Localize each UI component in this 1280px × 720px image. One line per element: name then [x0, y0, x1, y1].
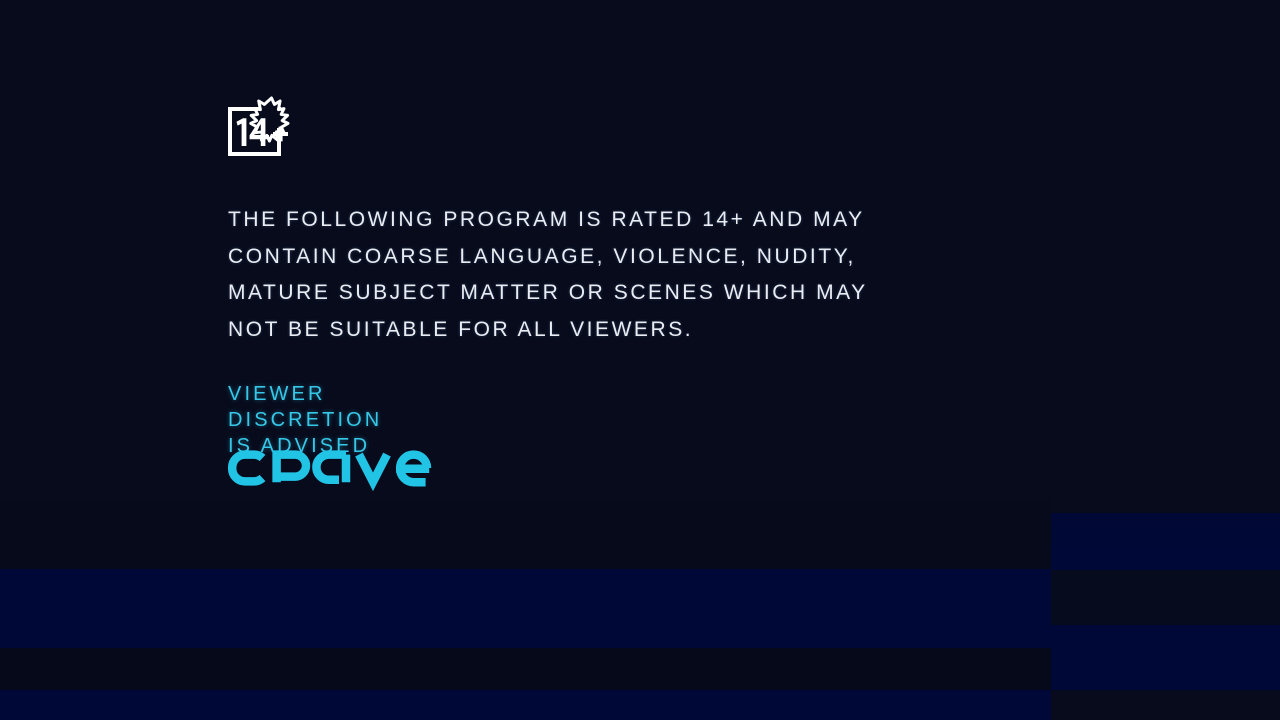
right-band-dark-1	[1051, 570, 1280, 625]
right-band-navy-1	[1051, 513, 1280, 570]
left-band-dark-1	[0, 648, 1051, 690]
crave-logo	[226, 442, 436, 494]
canadian-rating-14plus-icon	[228, 94, 302, 158]
left-band-navy-1	[0, 569, 1051, 648]
left-band-dark-upper	[0, 500, 1051, 569]
rating-bumper-screen: THE FOLLOWING PROGRAM IS RATED 14+ AND M…	[0, 0, 1280, 720]
right-band-dark-2	[1051, 690, 1280, 720]
advisory-text: THE FOLLOWING PROGRAM IS RATED 14+ AND M…	[228, 202, 1018, 348]
left-band-navy-2	[0, 690, 1051, 720]
background-bands	[0, 0, 1280, 720]
right-band-navy-2	[1051, 625, 1280, 690]
